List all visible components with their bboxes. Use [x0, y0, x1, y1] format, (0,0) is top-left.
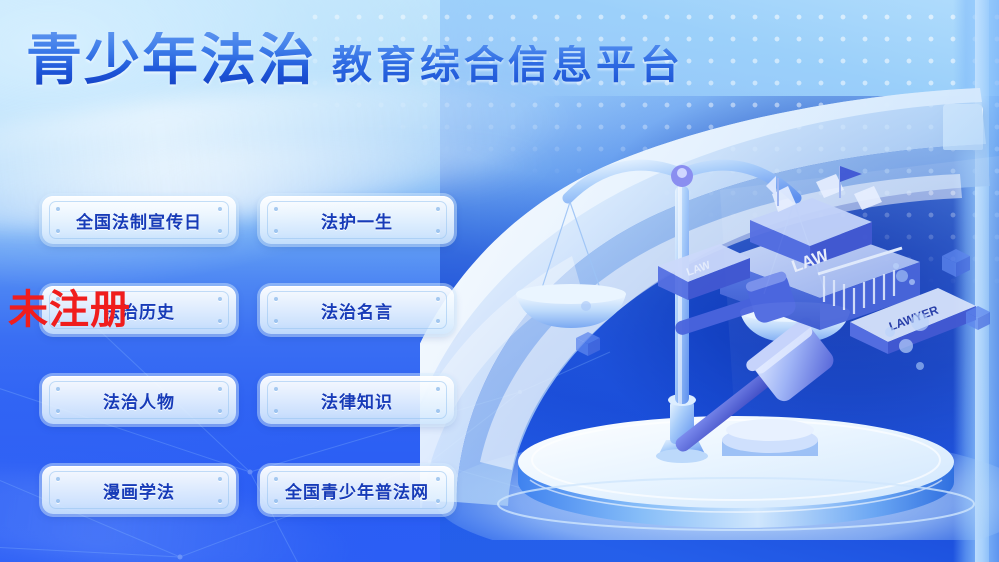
nav-button-label: 法治人物 [103, 388, 175, 413]
nav-button-legal-knowledge[interactable]: 法律知识 [260, 376, 454, 424]
curved-ribbon-illustration: LAW LAW LAWYER [420, 70, 999, 540]
page-title-sub: 教育综合信息平台 [332, 45, 684, 88]
rivet-dot [56, 499, 60, 503]
nav-button-label: 全国青少年普法网 [285, 478, 429, 503]
rivet-dot [274, 387, 278, 391]
rivet-dot [218, 499, 222, 503]
rivet-dot [274, 297, 278, 301]
rivet-dot [218, 297, 222, 301]
nav-button-rule-of-law-figures[interactable]: 法治人物 [42, 376, 236, 424]
nav-button-national-legal-publicity-day[interactable]: 全国法制宣传日 [42, 196, 236, 244]
nav-button-rule-of-law-history[interactable]: 法治历史 [42, 286, 236, 334]
nav-button-label: 全国法制宣传日 [76, 208, 202, 233]
nav-button-label: 法治历史 [103, 298, 175, 323]
rivet-dot [274, 499, 278, 503]
rivet-dot [436, 207, 440, 211]
rivet-dot [436, 387, 440, 391]
poster-canvas: LAW LAW LAWYER [0, 0, 999, 562]
nav-button-label: 法护一生 [321, 208, 393, 233]
rivet-dot [436, 409, 440, 413]
nav-button-national-youth-law-popularization-web[interactable]: 全国青少年普法网 [260, 466, 454, 514]
rivet-dot [274, 207, 278, 211]
rivet-dot [218, 207, 222, 211]
nav-button-rule-of-law-quotes[interactable]: 法治名言 [260, 286, 454, 334]
nav-button-grid: 全国法制宣传日法护一生法治历史法治名言法治人物法律知识漫画学法全国青少年普法网 [42, 196, 454, 514]
rivet-dot [436, 499, 440, 503]
rivet-dot [218, 409, 222, 413]
rivet-dot [218, 387, 222, 391]
rivet-dot [56, 409, 60, 413]
rivet-dot [436, 229, 440, 233]
rivet-dot [274, 319, 278, 323]
rivet-dot [436, 297, 440, 301]
rivet-dot [274, 477, 278, 481]
nav-button-label: 法治名言 [321, 298, 393, 323]
rivet-dot [56, 229, 60, 233]
rivet-dot [436, 477, 440, 481]
rivet-dot [274, 229, 278, 233]
nav-button-comic-law-learning[interactable]: 漫画学法 [42, 466, 236, 514]
rivet-dot [218, 229, 222, 233]
rivet-dot [274, 409, 278, 413]
rivet-dot [56, 477, 60, 481]
rivet-dot [218, 477, 222, 481]
nav-button-label: 漫画学法 [103, 478, 175, 503]
nav-button-label: 法律知识 [321, 388, 393, 413]
nav-button-law-protects-life[interactable]: 法护一生 [260, 196, 454, 244]
rivet-dot [436, 319, 440, 323]
rivet-dot [56, 387, 60, 391]
rivet-dot [56, 297, 60, 301]
rivet-dot [218, 319, 222, 323]
page-title: 青少年法治 教育综合信息平台 [26, 32, 684, 88]
rivet-dot [56, 207, 60, 211]
rivet-dot [56, 319, 60, 323]
page-title-main: 青少年法治 [26, 32, 316, 88]
